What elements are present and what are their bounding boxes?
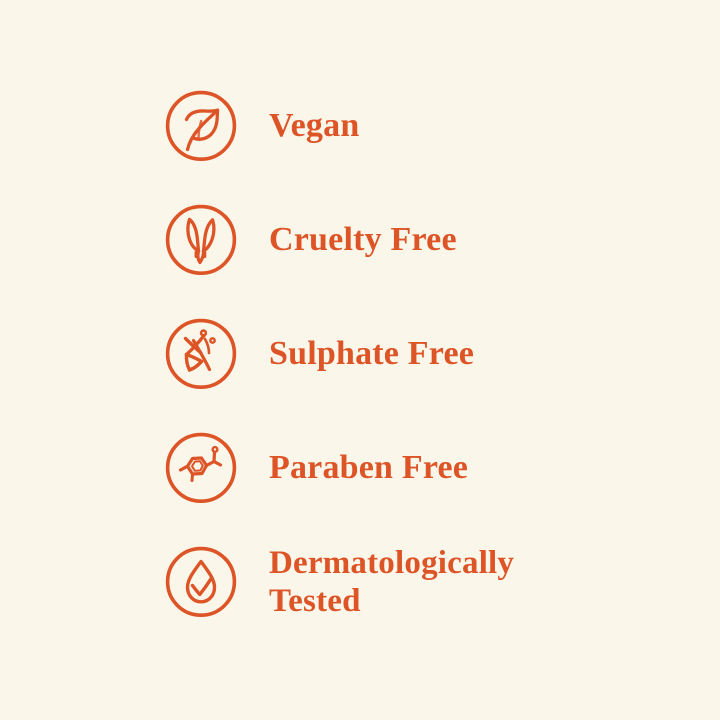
badge-label: Paraben Free [269,449,468,488]
leaf-icon [163,88,239,164]
badge-label: Dermatologically Tested [269,544,514,621]
badge-label: Cruelty Free [269,221,457,260]
badge-label: Sulphate Free [269,335,474,374]
badge-item-vegan: Vegan [163,88,683,164]
badge-list: Vegan [163,88,683,620]
badge-item-dermatologically-tested: Dermatologically Tested [163,544,683,620]
no-sulphate-icon [163,316,239,392]
badge-item-cruelty-free: Cruelty Free [163,202,683,278]
rabbit-icon [163,202,239,278]
badge-label: Vegan [269,107,359,146]
droplet-check-icon [163,544,239,620]
badge-item-paraben-free: Paraben Free [163,430,683,506]
badge-item-sulphate-free: Sulphate Free [163,316,683,392]
product-claims-panel: Vegan [0,0,720,720]
molecule-icon [163,430,239,506]
